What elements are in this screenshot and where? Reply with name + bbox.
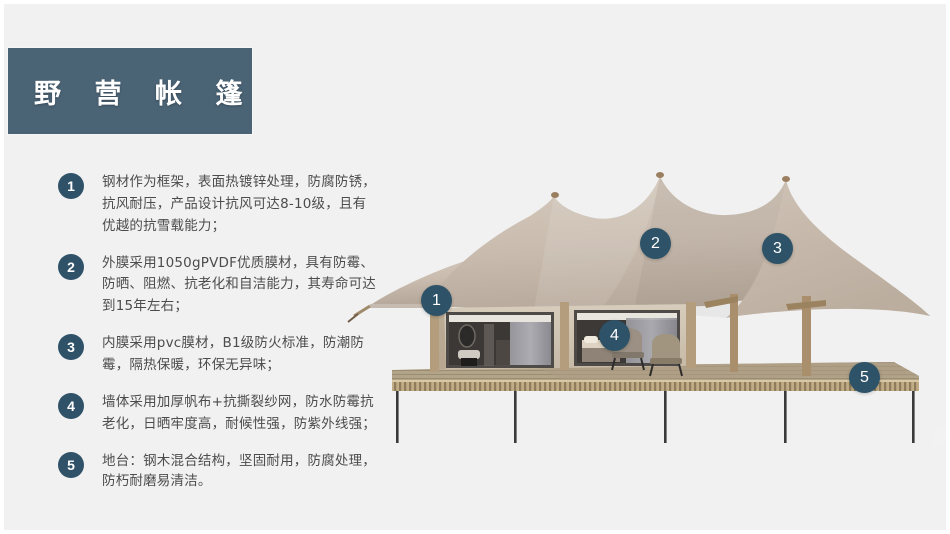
- photo-marker-2[interactable]: 2: [640, 228, 671, 259]
- list-item-text-5: 地台：钢木混合结构，坚固耐用，防腐处理，防朽耐磨易清洁。: [102, 451, 378, 492]
- list-item-badge-1: 1: [58, 173, 84, 199]
- deck-leg: [784, 391, 787, 443]
- list-item: 1 钢材作为框架，表面热镀锌处理，防腐防锈，抗风耐压，产品设计抗风可达8-10级…: [58, 172, 378, 238]
- center-post: [560, 302, 569, 370]
- photo-marker-5[interactable]: 5: [849, 362, 880, 393]
- photo-marker-3[interactable]: 3: [762, 233, 793, 264]
- canopy-peak-left: [551, 192, 559, 198]
- canopy-peak-center: [656, 172, 664, 178]
- page-title: 野 营 帐 篷: [8, 72, 256, 111]
- deck-leg: [396, 391, 399, 443]
- canopy-peak-right: [782, 176, 790, 182]
- curtain-left: [510, 322, 551, 365]
- list-item-badge-5: 5: [58, 452, 84, 478]
- corner-post-right: [686, 302, 696, 368]
- list-item: 5 地台：钢木混合结构，坚固耐用，防腐处理，防朽耐磨易清洁。: [58, 451, 378, 492]
- deck-leg: [514, 391, 517, 443]
- mirror-object: [459, 325, 475, 347]
- sink-object: [458, 350, 480, 359]
- list-item: 4 墙体采用加厚帆布+抗撕裂纱网，防水防霉抗老化，日晒牢度高，耐候性强，防紫外线…: [58, 392, 378, 436]
- list-item: 2 外膜采用1050gPVDF优质膜材，具有防霉、防晒、阻燃、抗老化和自洁能力，…: [58, 253, 378, 319]
- photo-marker-4[interactable]: 4: [599, 320, 630, 351]
- photo-marker-1[interactable]: 1: [421, 285, 452, 316]
- list-item-badge-3: 3: [58, 334, 84, 360]
- deck-leg: [664, 391, 667, 443]
- tent-illustration: 原创营居 ORIGINAL CAMP 1 2 3 4 5: [334, 154, 946, 454]
- slide-canvas: 野 营 帐 篷 1 钢材作为框架，表面热镀锌处理，防腐防锈，抗风耐压，产品设计抗…: [4, 4, 946, 530]
- list-item-badge-2: 2: [58, 254, 84, 280]
- terrace-pole-left: [730, 294, 738, 372]
- list-item: 3 内膜采用pvc膜材，B1级防火标准，防潮防霉，隔热保暖，环保无异味；: [58, 333, 378, 377]
- list-item-badge-4: 4: [58, 393, 84, 419]
- deck-leg: [912, 391, 915, 443]
- feature-list: 1 钢材作为框架，表面热镀锌处理，防腐防锈，抗风耐压，产品设计抗风可达8-10级…: [58, 172, 378, 491]
- page-title-block: 野 营 帐 篷: [8, 48, 252, 134]
